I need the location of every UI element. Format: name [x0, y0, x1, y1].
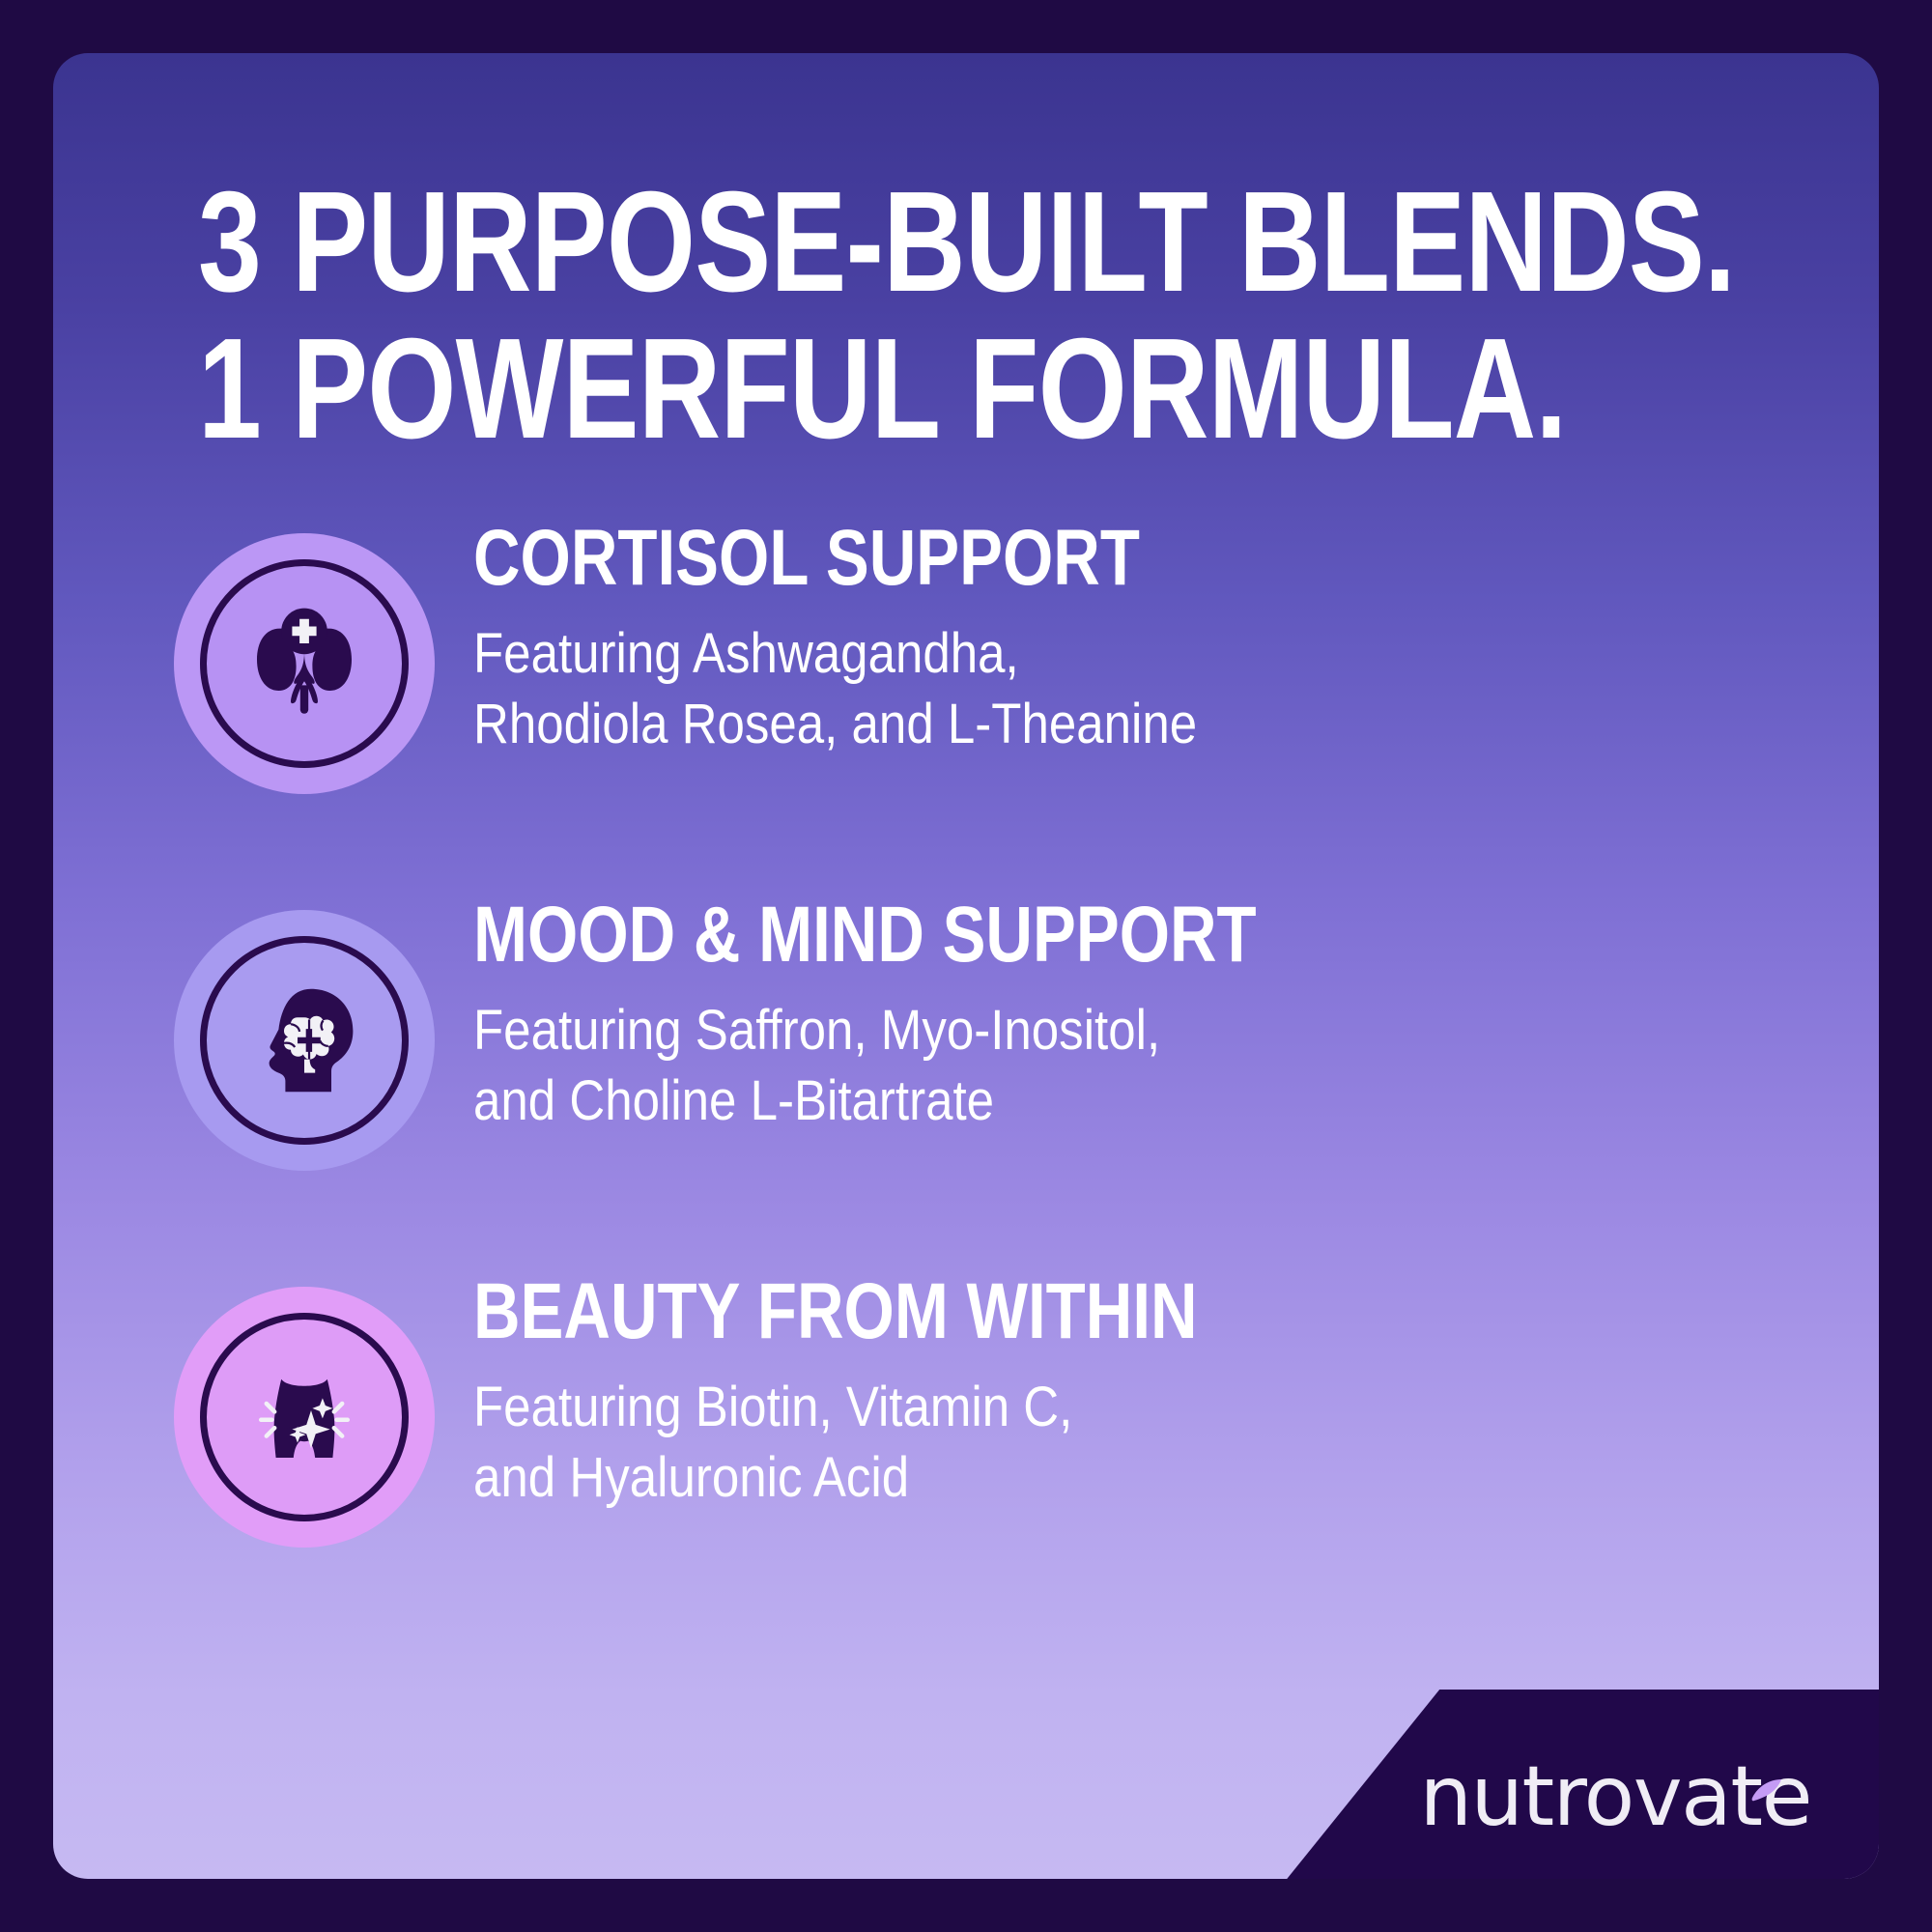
blend-icon-mood — [159, 895, 449, 1185]
icon-ring — [200, 1313, 409, 1521]
blend-title: CORTISOL SUPPORT — [473, 519, 1610, 598]
leaf-accent-icon — [1741, 1778, 1783, 1807]
icon-ring — [200, 936, 409, 1145]
blend-text-cortisol: CORTISOL SUPPORT Featuring Ashwagandha, … — [449, 497, 1860, 759]
poster-panel: 3 PURPOSE-BUILT BLENDS. 1 POWERFUL FORMU… — [53, 53, 1879, 1879]
kidneys-adrenal-icon — [237, 596, 372, 731]
blend-desc-line-1: Featuring Saffron, Myo-Inositol, — [473, 996, 1693, 1066]
blend-desc-line-1: Featuring Biotin, Vitamin C, — [473, 1373, 1693, 1443]
headline-line-1: 3 PURPOSE-BUILT BLENDS. — [198, 177, 1435, 308]
head-brain-icon — [237, 973, 372, 1108]
blend-title: MOOD & MIND SUPPORT — [473, 895, 1610, 975]
blend-text-beauty: BEAUTY FROM WITHIN Featuring Biotin, Vit… — [449, 1251, 1860, 1513]
blend-list: CORTISOL SUPPORT Featuring Ashwagandha, … — [159, 497, 1860, 1628]
blend-desc-line-2: and Hyaluronic Acid — [473, 1443, 1693, 1514]
headline-line-2: 1 POWERFUL FORMULA. — [198, 324, 1435, 455]
glowing-skin-body-icon — [237, 1350, 372, 1485]
blend-text-mood: MOOD & MIND SUPPORT Featuring Saffron, M… — [449, 874, 1860, 1136]
list-item: BEAUTY FROM WITHIN Featuring Biotin, Vit… — [159, 1251, 1860, 1628]
page-title: 3 PURPOSE-BUILT BLENDS. 1 POWERFUL FORMU… — [198, 177, 1744, 455]
blend-icon-cortisol — [159, 519, 449, 809]
brand-logo-band: nutrovate — [1284, 1690, 1879, 1879]
list-item: MOOD & MIND SUPPORT Featuring Saffron, M… — [159, 874, 1860, 1251]
poster-frame: 3 PURPOSE-BUILT BLENDS. 1 POWERFUL FORMU… — [0, 0, 1932, 1932]
icon-ring — [200, 559, 409, 768]
list-item: CORTISOL SUPPORT Featuring Ashwagandha, … — [159, 497, 1860, 874]
blend-desc-line-2: Rhodiola Rosea, and L-Theanine — [473, 690, 1693, 760]
blend-icon-beauty — [159, 1272, 449, 1562]
blend-desc-line-2: and Choline L-Bitartrate — [473, 1066, 1693, 1137]
blend-title: BEAUTY FROM WITHIN — [473, 1272, 1610, 1351]
blend-desc-line-1: Featuring Ashwagandha, — [473, 619, 1693, 690]
